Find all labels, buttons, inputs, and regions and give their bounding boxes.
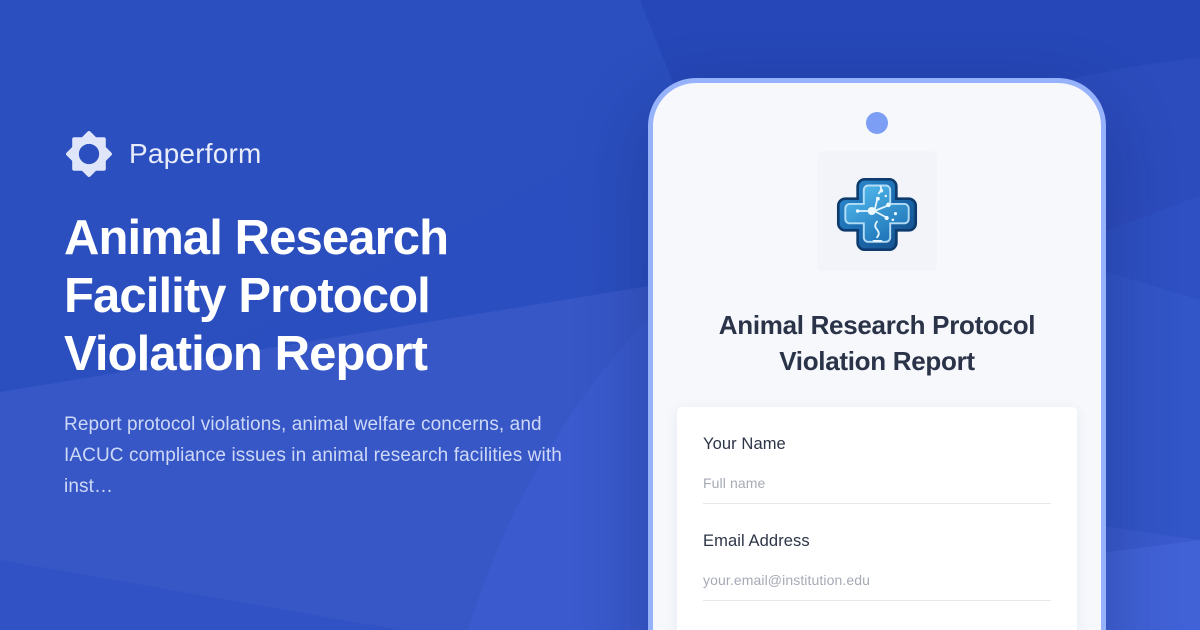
name-input[interactable]: Full name xyxy=(703,475,1051,504)
phone-mockup: Animal Research Protocol Violation Repor… xyxy=(648,78,1106,630)
field-label: Email Address xyxy=(703,532,1051,551)
form-title: Animal Research Protocol Violation Repor… xyxy=(687,307,1067,379)
phone-screen: Animal Research Protocol Violation Repor… xyxy=(653,83,1101,630)
paperform-starburst-logo-icon xyxy=(64,129,114,179)
form-field-email-address: Email Address your.email@institution.edu xyxy=(703,504,1051,601)
brand-name: Paperform xyxy=(129,138,262,170)
medical-cross-molecule-icon xyxy=(833,167,921,255)
hero-content: Paperform Animal Research Facility Proto… xyxy=(64,0,604,630)
form-field-your-name: Your Name Full name xyxy=(703,407,1051,504)
page-title: Animal Research Facility Protocol Violat… xyxy=(64,209,534,383)
og-image-canvas: Paperform Animal Research Facility Proto… xyxy=(0,0,1200,630)
field-label: Your Name xyxy=(703,435,1051,454)
email-input[interactable]: your.email@institution.edu xyxy=(703,572,1051,601)
form-card: Your Name Full name Email Address your.e… xyxy=(677,407,1077,630)
form-logo xyxy=(817,151,937,271)
page-description: Report protocol violations, animal welfa… xyxy=(64,409,564,502)
brand-lockup: Paperform xyxy=(64,129,604,179)
